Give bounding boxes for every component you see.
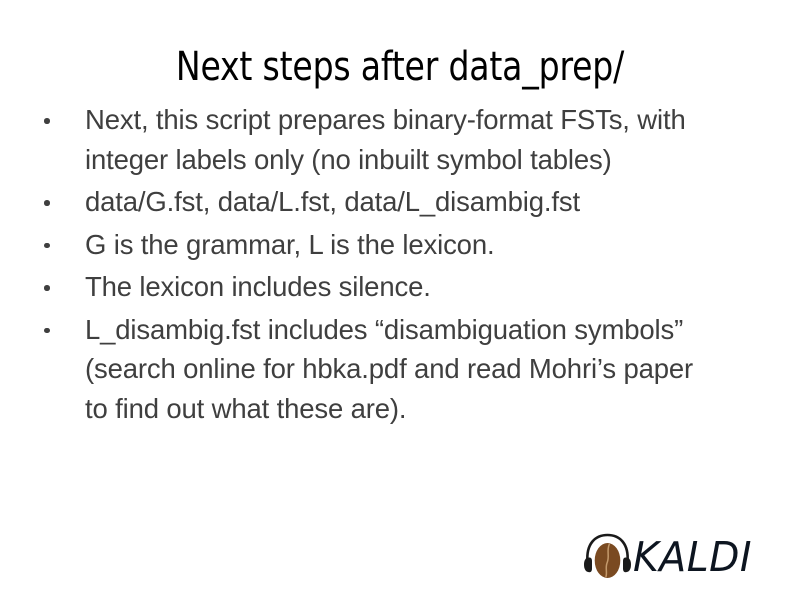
list-item-text: data/G.fst, data/L.fst, data/L_disambig.… [85, 182, 708, 222]
list-item-text: L_disambig.fst includes “disambiguation … [85, 310, 708, 429]
page-title: Next steps after data_prep/ [69, 43, 731, 91]
kaldi-wordmark: KALDI [633, 537, 752, 578]
bullet-dot-icon [44, 118, 50, 124]
bullet-dot-icon [44, 285, 50, 291]
bullet-dot-icon [44, 328, 50, 334]
list-item-text: G is the grammar, L is the lexicon. [85, 225, 708, 265]
list-item: Next, this script prepares binary-format… [36, 100, 708, 179]
bullet-dot-icon [44, 200, 50, 206]
bullet-dot-icon [44, 243, 50, 249]
list-item: data/G.fst, data/L.fst, data/L_disambig.… [36, 182, 708, 222]
list-item: G is the grammar, L is the lexicon. [36, 225, 708, 265]
kaldi-logo: KALDI [580, 527, 790, 587]
presentation-slide: Next steps after data_prep/ Next, this s… [0, 0, 800, 599]
kaldi-coffee-bean-headphones-icon [580, 529, 636, 585]
list-item-text: The lexicon includes silence. [85, 267, 708, 307]
list-item: L_disambig.fst includes “disambiguation … [36, 310, 708, 429]
list-item: The lexicon includes silence. [36, 267, 708, 307]
bullet-list: Next, this script prepares binary-format… [36, 100, 708, 431]
list-item-text: Next, this script prepares binary-format… [85, 100, 708, 179]
